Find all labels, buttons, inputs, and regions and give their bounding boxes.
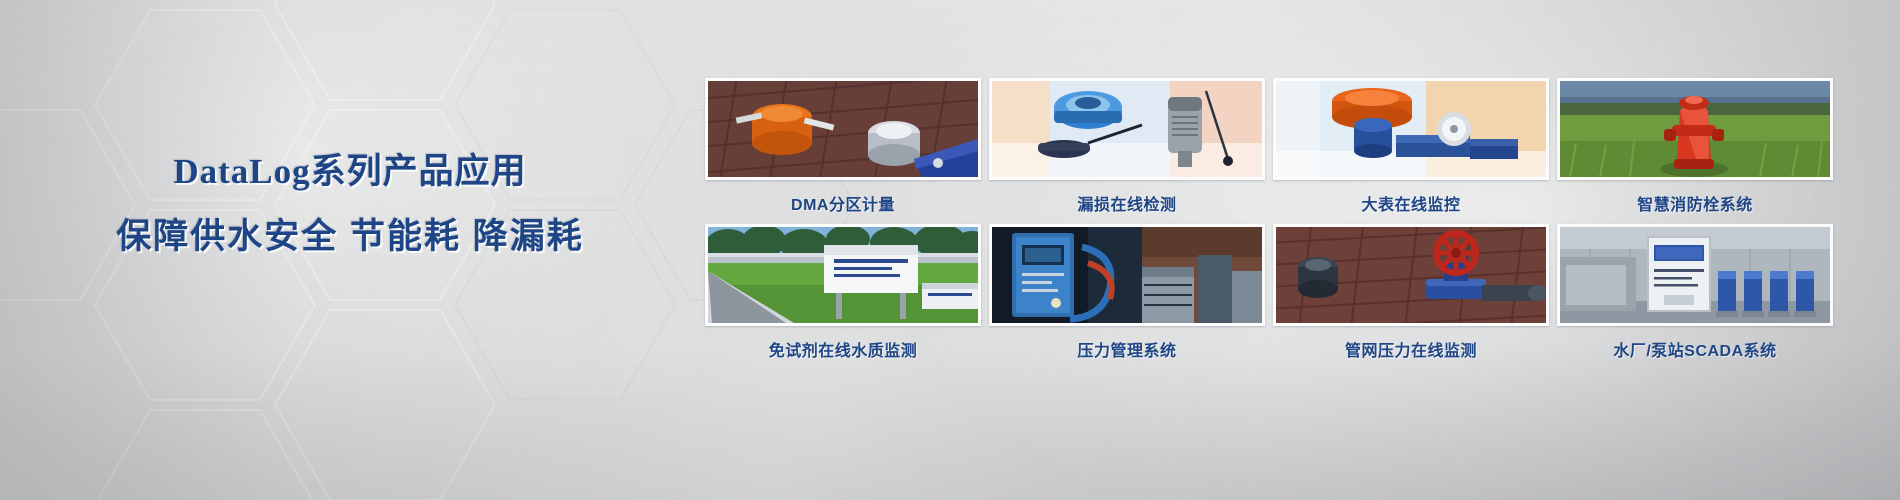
product-cell[interactable]: 漏损在线检测 — [989, 78, 1265, 224]
product-caption: DMA分区计量 — [705, 191, 981, 215]
product-thumbnail-frame[interactable] — [989, 78, 1265, 180]
product-thumbnail-frame[interactable] — [705, 78, 981, 180]
product-image-smart-hydrant — [1560, 81, 1830, 177]
product-thumbnail-frame[interactable] — [1557, 224, 1833, 326]
product-image-dma-metering — [708, 81, 978, 177]
headline-line-1: DataLog系列产品应用 — [0, 150, 700, 194]
product-image-scada-system — [1560, 227, 1830, 323]
hero-banner: DataLog系列产品应用 保障供水安全 节能耗 降漏耗 — [0, 0, 1900, 500]
product-cell[interactable]: 压力管理系统 — [989, 224, 1265, 370]
product-cell[interactable]: 免试剂在线水质监测 — [705, 224, 981, 370]
product-image-leak-detection — [992, 81, 1262, 177]
product-caption: 水厂/泵站SCADA系统 — [1557, 337, 1833, 361]
product-thumbnail-frame[interactable] — [1557, 78, 1833, 180]
product-cell[interactable]: DMA分区计量 — [705, 78, 981, 224]
product-cell[interactable]: 智慧消防栓系统 — [1557, 78, 1833, 224]
product-thumbnail-frame[interactable] — [1273, 224, 1549, 326]
product-image-reagent-free-water-quality — [708, 227, 978, 323]
headline-block: DataLog系列产品应用 保障供水安全 节能耗 降漏耗 — [0, 150, 700, 259]
product-image-large-meter-monitoring — [1276, 81, 1546, 177]
product-caption: 大表在线监控 — [1273, 191, 1549, 215]
product-grid: DMA分区计量 — [705, 78, 1855, 370]
product-caption: 漏损在线检测 — [989, 191, 1265, 215]
product-thumbnail-frame[interactable] — [1273, 78, 1549, 180]
product-caption: 智慧消防栓系统 — [1557, 191, 1833, 215]
product-thumbnail-frame[interactable] — [705, 224, 981, 326]
product-cell[interactable]: 管网压力在线监测 — [1273, 224, 1549, 370]
product-cell[interactable]: 大表在线监控 — [1273, 78, 1549, 224]
product-caption: 压力管理系统 — [989, 337, 1265, 361]
product-cell[interactable]: 水厂/泵站SCADA系统 — [1557, 224, 1833, 370]
product-image-pressure-management — [992, 227, 1262, 323]
product-caption: 免试剂在线水质监测 — [705, 337, 981, 361]
product-image-pipe-network-pressure — [1276, 227, 1546, 323]
headline-line-2: 保障供水安全 节能耗 降漏耗 — [0, 215, 700, 259]
product-caption: 管网压力在线监测 — [1273, 337, 1549, 361]
product-thumbnail-frame[interactable] — [989, 224, 1265, 326]
